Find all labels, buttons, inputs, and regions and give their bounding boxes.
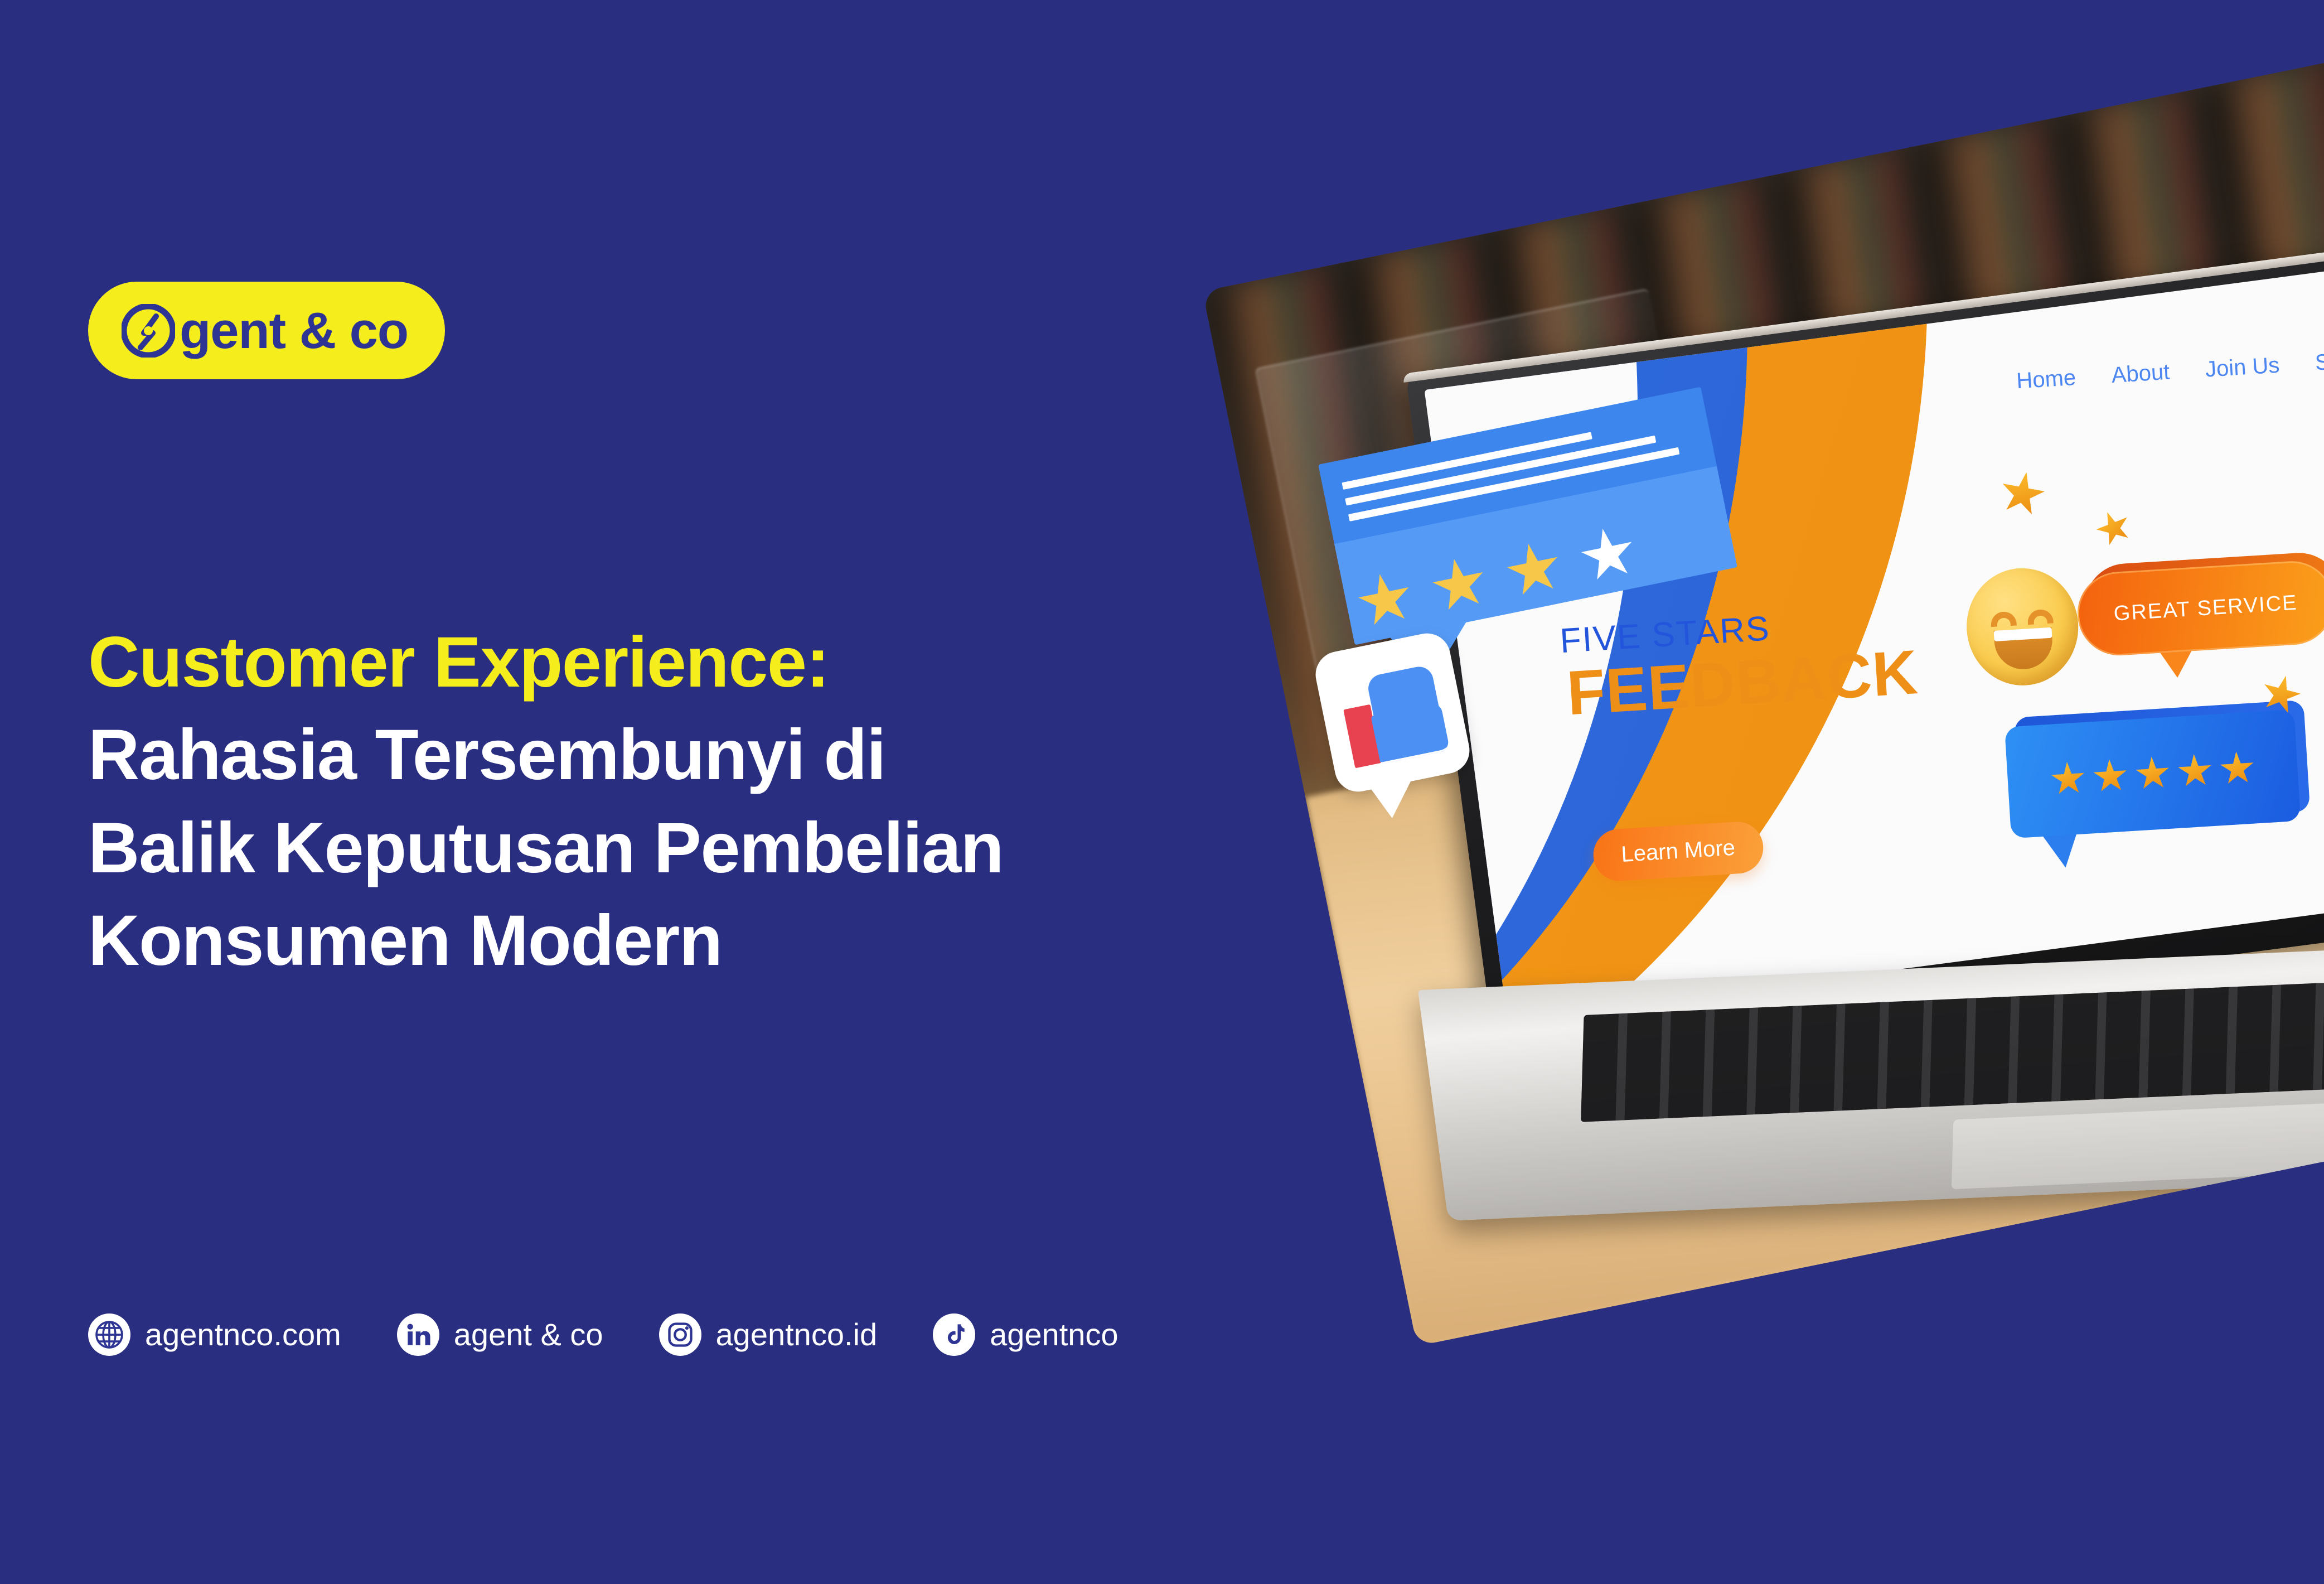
star-icon	[1502, 538, 1565, 601]
globe-icon	[88, 1313, 130, 1356]
social-link-tiktok[interactable]: agentnco	[933, 1313, 1118, 1356]
linkedin-icon	[397, 1313, 439, 1356]
laptop-keyboard	[1580, 973, 2324, 1122]
headline-line-4: Konsumen Modern	[88, 895, 1348, 987]
learn-more-button[interactable]: Learn More	[1591, 820, 1764, 882]
page-title: Customer Experience: Rahasia Tersembunyi…	[88, 616, 1348, 988]
thumbs-up-hand	[1366, 664, 1448, 764]
website-nav: Home About Join Us Services	[2015, 345, 2324, 394]
star-icon	[2091, 758, 2128, 795]
laptop-screen: Home About Join Us Services FIVE STARS F…	[1424, 258, 2324, 1021]
rating-bubble-face	[2004, 709, 2300, 838]
star-icon	[1353, 569, 1416, 632]
social-label-linkedin: agent & co	[454, 1319, 603, 1350]
brand-logo[interactable]: gent & co	[88, 282, 445, 379]
tiktok-icon	[933, 1313, 975, 1356]
badge-face: GREAT SERVICE	[2075, 559, 2324, 658]
nav-item-services[interactable]: Services	[2314, 345, 2324, 375]
instagram-icon	[659, 1313, 701, 1356]
star-icon	[1996, 468, 2048, 520]
five-star-rating-bubble	[2004, 709, 2300, 838]
social-label-website: agentnco.com	[145, 1319, 341, 1350]
emoji-eye-left	[1990, 611, 2017, 627]
social-link-instagram[interactable]: agentnco.id	[659, 1313, 878, 1356]
emoji-eye-right	[2027, 609, 2054, 625]
star-icon	[2091, 506, 2136, 550]
star-icon	[2176, 753, 2213, 790]
social-media-post-slide: Home About Join Us Services FIVE STARS F…	[0, 0, 2324, 1584]
great-service-badge: GREAT SERVICE	[2075, 559, 2324, 658]
social-label-tiktok: agentnco	[990, 1319, 1118, 1350]
nav-item-join-us[interactable]: Join Us	[2204, 353, 2280, 383]
smiling-face-icon	[1963, 565, 2081, 689]
brand-wordmark: gent & co	[180, 305, 408, 356]
nav-item-home[interactable]: Home	[2015, 365, 2076, 394]
star-icon	[2219, 750, 2255, 787]
social-link-linkedin[interactable]: agent & co	[397, 1313, 603, 1356]
laptop-trackpad	[1951, 1100, 2324, 1189]
laptop-lid: Home About Join Us Services FIVE STARS F…	[1405, 239, 2324, 1052]
social-link-website[interactable]: agentnco.com	[88, 1313, 341, 1356]
emoji-mouth	[1993, 627, 2054, 671]
nav-item-about[interactable]: About	[2110, 360, 2170, 388]
headline-line-2: Rahasia Tersembunyi di	[88, 709, 1348, 801]
social-links-bar: agentnco.com agent & co agentnco.id	[88, 1313, 1119, 1356]
headline-line-1: Customer Experience:	[88, 616, 1348, 709]
star-icon	[2134, 755, 2171, 792]
star-icon	[2049, 761, 2086, 798]
star-icon	[1428, 554, 1491, 617]
headline-line-3: Balik Keputusan Pembelian	[88, 802, 1348, 895]
star-outline-icon	[1576, 523, 1639, 586]
badge-label: GREAT SERVICE	[2113, 591, 2298, 626]
social-label-instagram: agentnco.id	[716, 1319, 878, 1350]
laptop-device: Home About Join Us Services FIVE STARS F…	[1405, 227, 2324, 1143]
agent-circle-a-icon	[122, 304, 175, 358]
